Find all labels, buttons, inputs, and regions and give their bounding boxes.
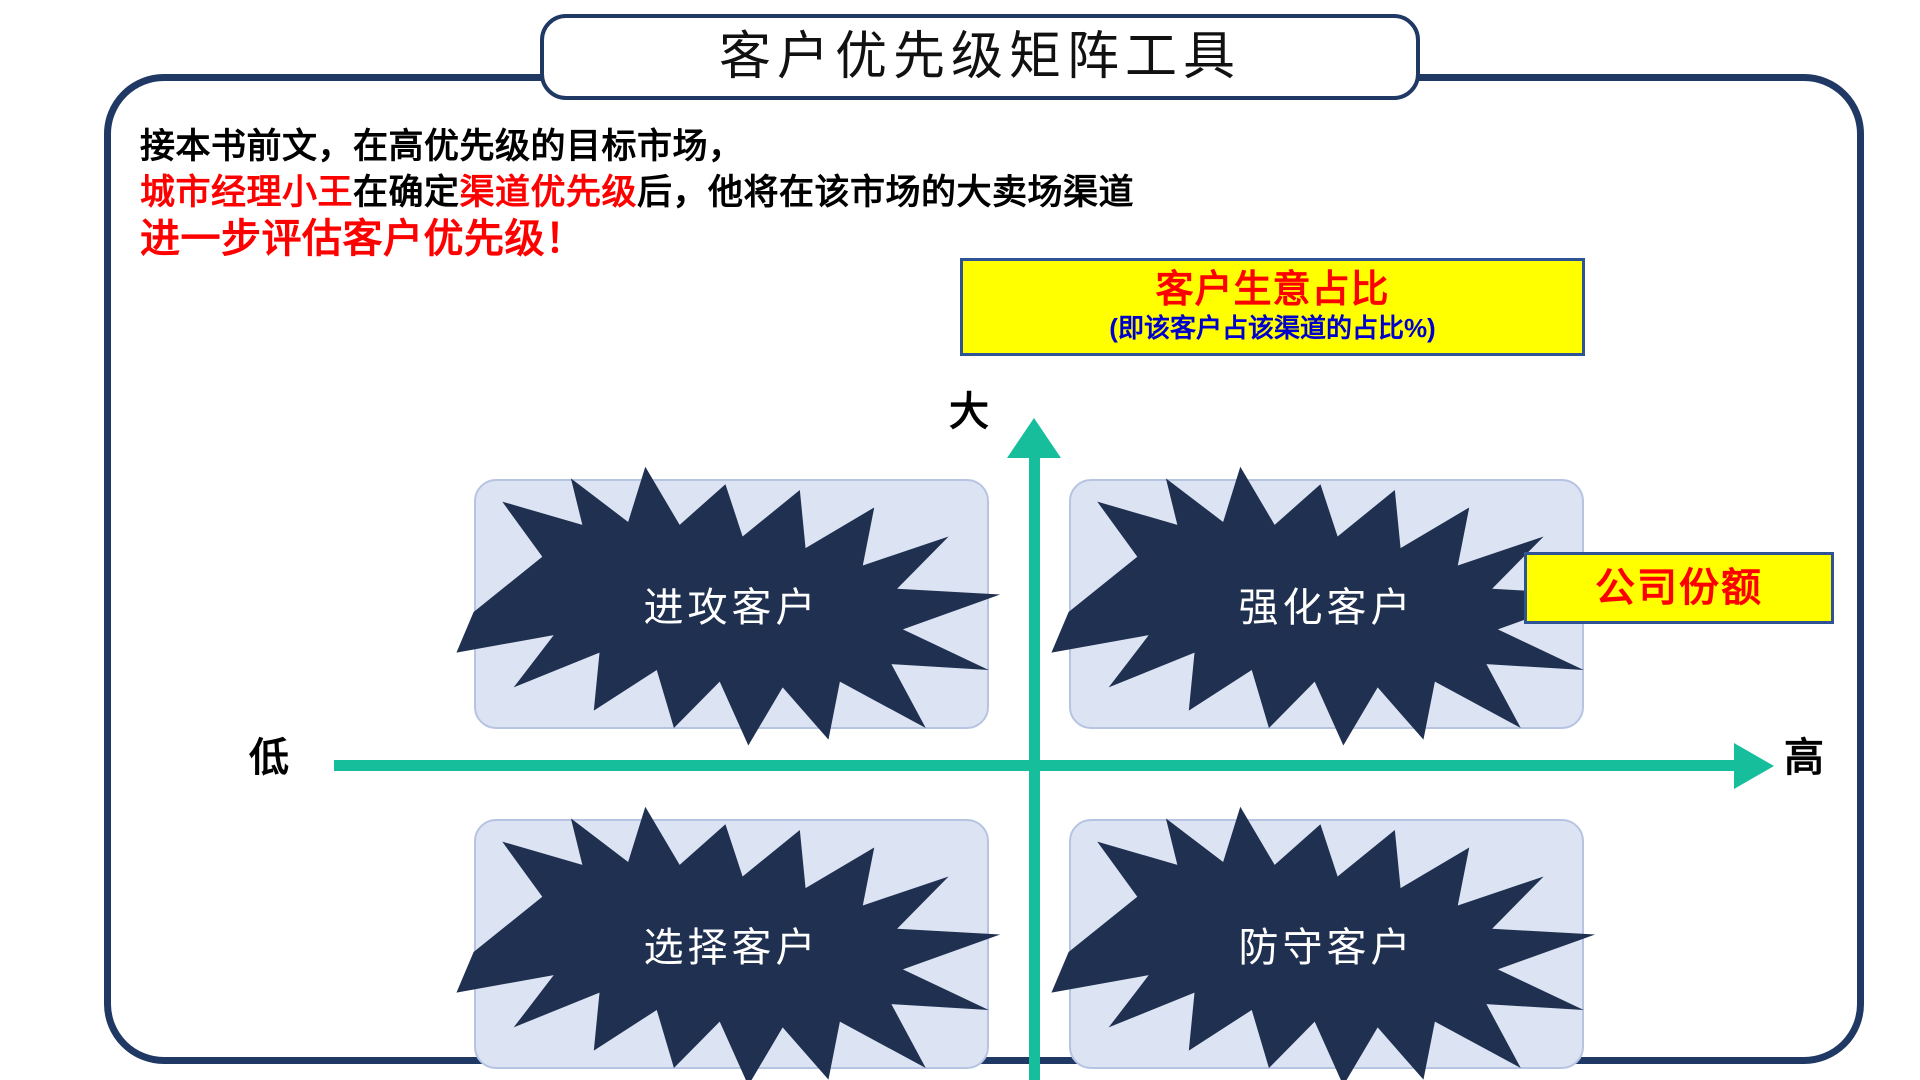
intro-line-1: 接本书前文，在高优先级的目标市场，	[140, 124, 1320, 170]
y-axis-callout-subtitle: (即该客户占该渠道的占比%)	[1109, 314, 1435, 343]
star-shape-wrapper: 强化客户	[1071, 481, 1582, 727]
quadrant-card-bottom-right[interactable]: 防守客户	[1069, 819, 1584, 1069]
quadrant-card-bottom-left[interactable]: 选择客户	[474, 819, 989, 1069]
quadrant-label-top-right: 强化客户	[1239, 575, 1415, 633]
quadrant-label-bottom-left: 选择客户	[644, 915, 820, 973]
quadrant-card-top-right[interactable]: 强化客户	[1069, 479, 1584, 729]
axis-label-top: 大	[949, 392, 989, 432]
quadrant-card-top-left[interactable]: 进攻客户	[474, 479, 989, 729]
intro-line-2-mid: 在确定	[353, 173, 460, 212]
intro-paragraph: 接本书前文，在高优先级的目标市场， 城市经理小王在确定渠道优先级后，他将在该市场…	[140, 124, 1320, 264]
x-axis-callout-box: 公司份额	[1524, 552, 1834, 624]
star-shape-wrapper: 防守客户	[1071, 821, 1582, 1067]
vertical-axis-arrow-icon	[1007, 418, 1061, 458]
axis-label-left: 低	[249, 738, 289, 778]
title-box: 客户优先级矩阵工具	[540, 14, 1420, 100]
y-axis-callout-box: 客户生意占比 (即该客户占该渠道的占比%)	[960, 258, 1585, 356]
intro-line-2-tail: 后，他将在该市场的大卖场渠道	[637, 173, 1134, 212]
intro-highlight-channel-priority: 渠道优先级	[460, 173, 638, 212]
star-shape-wrapper: 选择客户	[476, 821, 987, 1067]
x-axis-callout-text: 公司份额	[1595, 568, 1763, 608]
quadrant-label-bottom-right: 防守客户	[1239, 915, 1415, 973]
y-axis-callout-title: 客户生意占比	[1155, 271, 1389, 311]
page-title: 客户优先级矩阵工具	[719, 31, 1241, 83]
axis-label-right: 高	[1784, 738, 1824, 778]
horizontal-axis-arrow-icon	[1734, 743, 1774, 789]
intro-line-1-text: 接本书前文，在高优先级的目标市场，	[140, 127, 744, 166]
star-shape-wrapper: 进攻客户	[476, 481, 987, 727]
intro-line-3: 进一步评估客户优先级！	[140, 215, 1320, 264]
slide-canvas: 客户优先级矩阵工具 接本书前文，在高优先级的目标市场， 城市经理小王在确定渠道优…	[0, 0, 1920, 1080]
quadrant-label-top-left: 进攻客户	[644, 575, 820, 633]
intro-line-2: 城市经理小王在确定渠道优先级后，他将在该市场的大卖场渠道	[140, 170, 1320, 216]
intro-highlight-manager: 城市经理小王	[140, 173, 353, 212]
horizontal-axis-line	[334, 760, 1744, 771]
